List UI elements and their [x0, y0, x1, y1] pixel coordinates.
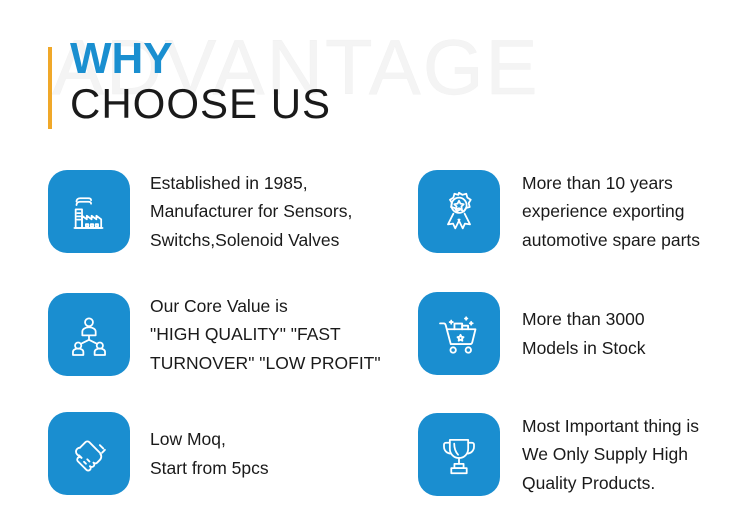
feature-item: Most Important thing is We Only Supply H… [418, 412, 699, 497]
team-hierarchy-icon [64, 310, 114, 360]
feature-text: Established in 1985, Manufacturer for Se… [150, 169, 352, 254]
shopping-cart-icon [433, 308, 485, 360]
feature-item: Established in 1985, Manufacturer for Se… [48, 169, 352, 254]
handshake-icon [63, 428, 115, 480]
page-title: WHY CHOOSE US [70, 38, 331, 126]
feature-item: More than 10 years experience exporting … [418, 169, 700, 254]
feature-item: Low Moq, Start from 5pcs [48, 412, 269, 495]
feature-grid: Established in 1985, Manufacturer for Se… [0, 145, 750, 527]
handshake-icon-tile [48, 412, 130, 495]
shopping-cart-icon-tile [418, 292, 500, 375]
feature-item: More than 3000 Models in Stock [418, 292, 646, 375]
feature-text: Most Important thing is We Only Supply H… [522, 412, 699, 497]
feature-text: More than 3000 Models in Stock [522, 305, 646, 362]
factory-icon-tile [48, 170, 130, 253]
trophy-icon-tile [418, 413, 500, 496]
why-choose-us-page: ADVANTAGE WHY CHOOSE US Established in 1… [0, 0, 750, 527]
trophy-icon [434, 430, 484, 480]
award-badge-icon [434, 187, 484, 237]
feature-text: Low Moq, Start from 5pcs [150, 425, 269, 482]
feature-text: Our Core Value is "HIGH QUALITY" "FAST T… [150, 292, 381, 377]
award-badge-icon-tile [418, 170, 500, 253]
feature-text: More than 10 years experience exporting … [522, 169, 700, 254]
team-hierarchy-icon-tile [48, 293, 130, 376]
title-line-why: WHY [70, 38, 331, 80]
title-line-choose-us: CHOOSE US [70, 82, 331, 126]
page-header: ADVANTAGE WHY CHOOSE US [0, 0, 750, 145]
feature-item: Our Core Value is "HIGH QUALITY" "FAST T… [48, 292, 381, 377]
factory-icon [64, 187, 114, 237]
